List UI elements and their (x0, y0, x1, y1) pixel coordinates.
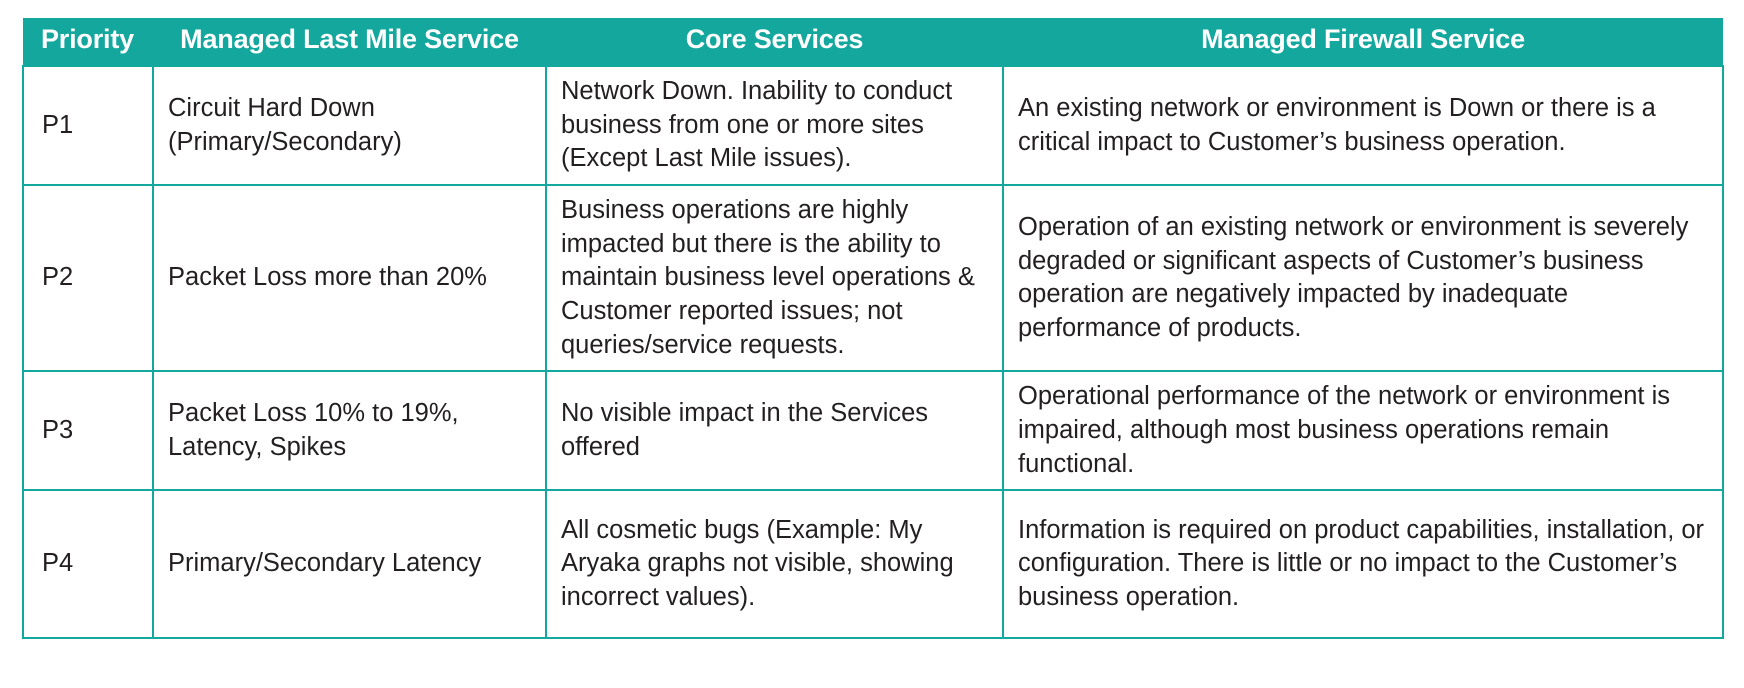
cell-core-services-p2: Business operations are highly impacted … (546, 185, 1003, 371)
cell-last-mile-p2: Packet Loss more than 20% (153, 185, 546, 371)
table-row: P1 Circuit Hard Down (Primary/Secondary)… (23, 66, 1723, 185)
priority-matrix-page: Priority Managed Last Mile Service Core … (0, 0, 1744, 688)
table-row: P3 Packet Loss 10% to 19%, Latency, Spik… (23, 371, 1723, 490)
cell-priority-p3: P3 (23, 371, 153, 490)
cell-last-mile-p1: Circuit Hard Down (Primary/Secondary) (153, 66, 546, 185)
cell-priority-p1: P1 (23, 66, 153, 185)
table-row: P2 Packet Loss more than 20% Business op… (23, 185, 1723, 371)
cell-firewall-p1: An existing network or environment is Do… (1003, 66, 1723, 185)
table-body: P1 Circuit Hard Down (Primary/Secondary)… (23, 66, 1723, 638)
priority-definitions-table: Priority Managed Last Mile Service Core … (22, 18, 1724, 639)
header-row: Priority Managed Last Mile Service Core … (23, 18, 1723, 66)
table-header: Priority Managed Last Mile Service Core … (23, 18, 1723, 66)
cell-last-mile-p3: Packet Loss 10% to 19%, Latency, Spikes (153, 371, 546, 490)
table-row: P4 Primary/Secondary Latency All cosmeti… (23, 490, 1723, 638)
cell-core-services-p4: All cosmetic bugs (Example: My Aryaka gr… (546, 490, 1003, 638)
cell-firewall-p4: Information is required on product capab… (1003, 490, 1723, 638)
column-header-priority: Priority (23, 18, 153, 66)
cell-core-services-p3: No visible impact in the Services offere… (546, 371, 1003, 490)
cell-priority-p4: P4 (23, 490, 153, 638)
cell-last-mile-p4: Primary/Secondary Latency (153, 490, 546, 638)
cell-firewall-p2: Operation of an existing network or envi… (1003, 185, 1723, 371)
column-header-managed-last-mile-service: Managed Last Mile Service (153, 18, 546, 66)
cell-priority-p2: P2 (23, 185, 153, 371)
column-header-managed-firewall-service: Managed Firewall Service (1003, 18, 1723, 66)
cell-firewall-p3: Operational performance of the network o… (1003, 371, 1723, 490)
cell-core-services-p1: Network Down. Inability to conduct busin… (546, 66, 1003, 185)
column-header-core-services: Core Services (546, 18, 1003, 66)
